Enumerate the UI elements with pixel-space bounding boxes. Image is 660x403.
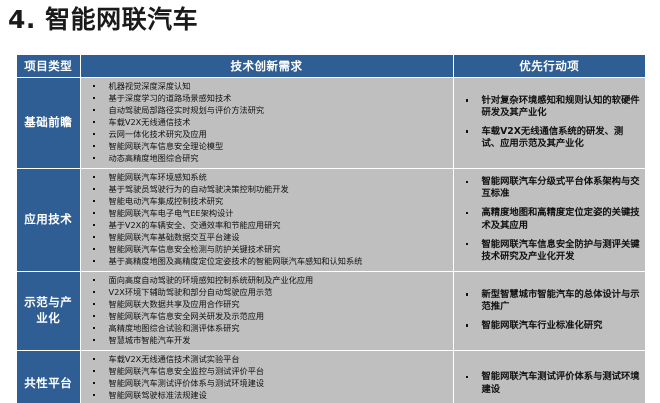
page-title: 4. 智能网联汽车 [8, 6, 198, 35]
list-item: V2X环境下辅助驾驶和部分自动驾驶应用示范 [87, 287, 449, 298]
row-actions-cell: 针对复杂环境感知和规则认知的软硬件研发及其产业化 车载V2X无线通信系统的研发、… [453, 77, 645, 168]
list-item: 智能网联汽车测试评价体系与测试环境建设 [460, 371, 642, 395]
list-item: 高精度地图和高精度定位定姿的关键技术及其应用 [460, 207, 642, 231]
table-body: 基础前瞻 机器视觉深度深度认知 基于深度学习的道路场景感知技术 自动驾驶局部路径… [17, 77, 645, 403]
list-item: 智能网联驾驶标准法规建设 [87, 390, 449, 401]
row-actions-cell: 智能网联汽车分级式平台体系架构与交互标准 高精度地图和高精度定位定姿的关键技术及… [453, 168, 645, 271]
list-item: 智能网联大数据共享及应用合作研究 [87, 299, 449, 310]
list-item: 车载V2X无线通信技术测试实验平台 [87, 354, 449, 365]
list-item: 智能网联汽车信息安全监控与测试评价平台 [87, 366, 449, 377]
slide-canvas: 4. 智能网联汽车 项目类型 技术创新需求 优先行动项 基础前瞻 机器视觉深度深… [0, 0, 660, 403]
actions-list: 新型智慧城市智能汽车的总体设计与示范推广 智能网联汽车行业标准化研究 [460, 289, 642, 332]
list-item: 智能网联汽车信息安全防护与测评关键技术研究及产业化开发 [460, 239, 642, 263]
list-item: 智能网联汽车测试评价体系与测试环境建设 [87, 378, 449, 389]
list-item: 智能网联汽车环境感知系统 [87, 172, 449, 183]
table-row: 共性平台 车载V2X无线通信技术测试实验平台 智能网联汽车信息安全监控与测试评价… [17, 350, 645, 403]
needs-list: 机器视觉深度深度认知 基于深度学习的道路场景感知技术 自动驾驶局部路径实时规划与… [87, 81, 449, 164]
row-category-label: 共性平台 [17, 350, 80, 403]
roadmap-table: 项目类型 技术创新需求 优先行动项 基础前瞻 机器视觉深度深度认知 基于深度学习… [17, 55, 645, 403]
needs-list: 面向高度自动驾驶的环境感知控制系统研制及产业化应用 V2X环境下辅助驾驶和部分自… [87, 275, 449, 346]
actions-list: 智能网联汽车分级式平台体系架构与交互标准 高精度地图和高精度定位定姿的关键技术及… [460, 176, 642, 262]
list-item: 智能网联汽车电子电气EE架构设计 [87, 208, 449, 219]
list-item: 动态高精度地图综合研究 [87, 153, 449, 164]
needs-list: 车载V2X无线通信技术测试实验平台 智能网联汽车信息安全监控与测试评价平台 智能… [87, 354, 449, 403]
list-item: 新型智慧城市智能汽车的总体设计与示范推广 [460, 289, 642, 313]
list-item: 基于高精度地图及高精度定位定姿技术的智能网联汽车感知和认知系统 [87, 256, 449, 267]
list-item: 基于驾驶员驾驶行为的自动驾驶决策控制功能开发 [87, 184, 449, 195]
table-header-row: 项目类型 技术创新需求 优先行动项 [17, 55, 645, 77]
row-needs-cell: 智能网联汽车环境感知系统 基于驾驶员驾驶行为的自动驾驶决策控制功能开发 智能电动… [80, 168, 453, 271]
list-item: 面向高度自动驾驶的环境感知控制系统研制及产业化应用 [87, 275, 449, 286]
actions-list: 针对复杂环境感知和规则认知的软硬件研发及其产业化 车载V2X无线通信系统的研发、… [460, 95, 642, 150]
list-item: 高精度地图综合试验和测评体系研究 [87, 323, 449, 334]
list-item: 机器视觉深度深度认知 [87, 81, 449, 92]
list-item: 智能网联汽车行业标准化研究 [460, 320, 642, 332]
row-actions-cell: 智能网联汽车测试评价体系与测试环境建设 [453, 350, 645, 403]
row-category-label: 示范与产业化 [17, 271, 80, 350]
list-item: 智慧城市智能汽车开发 [87, 335, 449, 346]
table-row: 示范与产业化 面向高度自动驾驶的环境感知控制系统研制及产业化应用 V2X环境下辅… [17, 271, 645, 350]
actions-list: 智能网联汽车测试评价体系与测试环境建设 [460, 371, 642, 395]
list-item: 车载V2X无线通信技术 [87, 117, 449, 128]
column-header-category: 项目类型 [17, 55, 80, 77]
list-item: 车载V2X无线通信系统的研发、测试、应用示范及其产业化 [460, 126, 642, 150]
list-item: 基于V2X的车辆安全、交通效率和节能应用研究 [87, 220, 449, 231]
list-item: 针对复杂环境感知和规则认知的软硬件研发及其产业化 [460, 95, 642, 119]
list-item: 智能电动汽车集成控制技术研究 [87, 196, 449, 207]
list-item: 智能网联汽车分级式平台体系架构与交互标准 [460, 176, 642, 200]
list-item: 智能网联汽车基础数据交互平台建设 [87, 232, 449, 243]
list-item: 智能网联汽车信息安全网关研发及示范应用 [87, 311, 449, 322]
list-item: 智能网联汽车信息安全理论模型 [87, 141, 449, 152]
list-item: 自动驾驶局部路径实时规划与评价方法研究 [87, 105, 449, 116]
row-actions-cell: 新型智慧城市智能汽车的总体设计与示范推广 智能网联汽车行业标准化研究 [453, 271, 645, 350]
row-category-label: 应用技术 [17, 168, 80, 271]
column-header-needs: 技术创新需求 [80, 55, 453, 77]
list-item: 云网一体化技术研究及应用 [87, 129, 449, 140]
row-needs-cell: 面向高度自动驾驶的环境感知控制系统研制及产业化应用 V2X环境下辅助驾驶和部分自… [80, 271, 453, 350]
needs-list: 智能网联汽车环境感知系统 基于驾驶员驾驶行为的自动驾驶决策控制功能开发 智能电动… [87, 172, 449, 267]
table-header: 项目类型 技术创新需求 优先行动项 [17, 55, 645, 77]
table-row: 基础前瞻 机器视觉深度深度认知 基于深度学习的道路场景感知技术 自动驾驶局部路径… [17, 77, 645, 168]
row-needs-cell: 车载V2X无线通信技术测试实验平台 智能网联汽车信息安全监控与测试评价平台 智能… [80, 350, 453, 403]
list-item: 基于深度学习的道路场景感知技术 [87, 93, 449, 104]
table-row: 应用技术 智能网联汽车环境感知系统 基于驾驶员驾驶行为的自动驾驶决策控制功能开发… [17, 168, 645, 271]
row-category-label: 基础前瞻 [17, 77, 80, 168]
list-item: 智能网联汽车信息安全检测与防护关键技术研究 [87, 244, 449, 255]
column-header-actions: 优先行动项 [453, 55, 645, 77]
row-needs-cell: 机器视觉深度深度认知 基于深度学习的道路场景感知技术 自动驾驶局部路径实时规划与… [80, 77, 453, 168]
